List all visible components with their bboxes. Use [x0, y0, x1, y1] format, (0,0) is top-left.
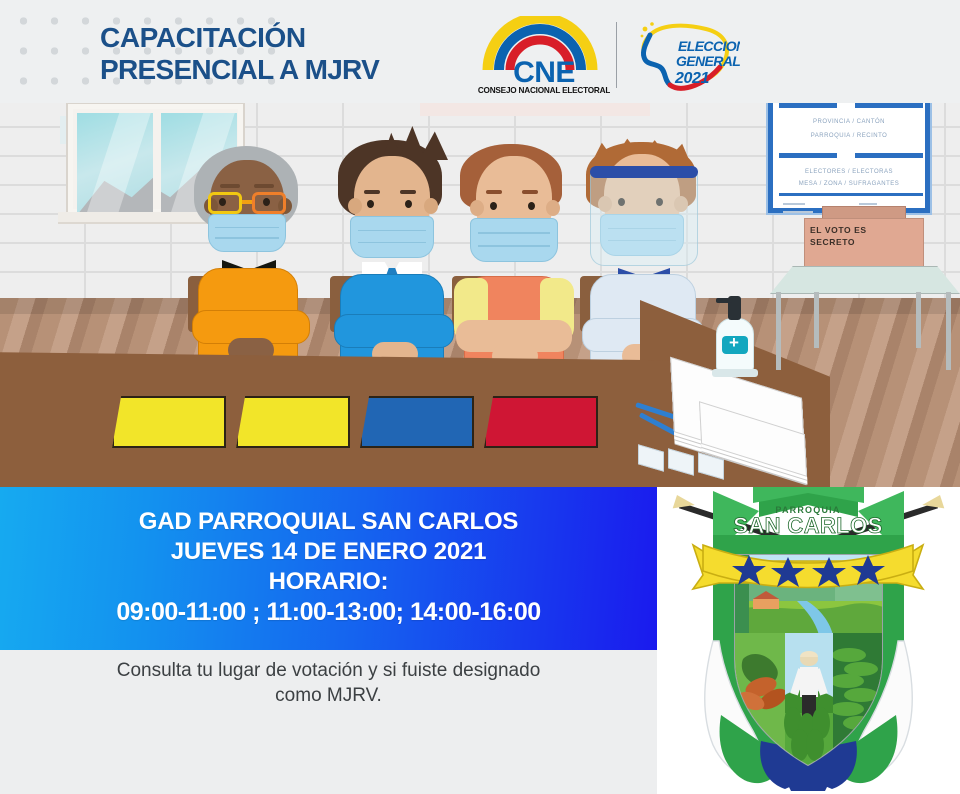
- eyebrow: [400, 190, 416, 194]
- page-title-line2: PRESENCIAL A MJRV: [100, 54, 379, 86]
- eye: [367, 200, 374, 208]
- svg-text:CONSEJO NACIONAL ELECTORAL: CONSEJO NACIONAL ELECTORAL: [478, 86, 610, 95]
- svg-text:ELECCIONES: ELECCIONES: [678, 38, 740, 54]
- ballot-red: [484, 396, 598, 448]
- page-title: CAPACITACIÓN PRESENCIAL A MJRV: [100, 22, 379, 86]
- tally-minor-line: [859, 203, 877, 205]
- eye: [219, 198, 226, 206]
- coat-of-arms: PARROQUIA SAN CARLOS: [657, 487, 960, 793]
- face-mask: [470, 218, 558, 262]
- tally-field2-line1: ELECTORES / ELECTORAS: [773, 169, 925, 175]
- ballot-box-text: EL VOTO ES SECRETO: [810, 224, 910, 248]
- svg-text:2021: 2021: [674, 70, 709, 87]
- face-mask: [350, 216, 434, 258]
- face-mask: [208, 214, 286, 252]
- banner-line-location: GAD PARROQUIAL SAN CARLOS: [0, 507, 657, 537]
- eye: [405, 200, 412, 208]
- eye: [528, 202, 535, 210]
- person-orange-tshirt: [452, 148, 576, 376]
- table-leg: [776, 292, 781, 370]
- tally-minor-line: [783, 203, 805, 205]
- tally-field2-line2: MESA / ZONA / SUFRAGANTES: [773, 181, 925, 187]
- ballot-yellow-1: [112, 396, 226, 448]
- eyebrow: [220, 184, 240, 188]
- ear: [470, 200, 484, 216]
- person-elderly-orange: [186, 146, 316, 376]
- face-shield: [590, 170, 698, 266]
- tally-divider: [779, 153, 837, 158]
- elecciones-generales-2021-logo: ELECCIONES GENERALES 2021: [620, 13, 740, 99]
- tally-divider: [855, 153, 923, 158]
- ear: [546, 200, 560, 216]
- ear: [424, 198, 438, 214]
- face-shield-band: [590, 166, 698, 178]
- tally-divider: [779, 103, 837, 108]
- banner-line-schedule-times: 09:00-11:00 ; 11:00-13:00; 14:00-16:00: [0, 597, 657, 627]
- tally-field1-line2: PARROQUIA / RECINTO: [773, 133, 925, 139]
- ballot-yellow-2: [236, 396, 350, 448]
- hand-sanitizer: [714, 296, 756, 376]
- table-leg: [814, 292, 819, 348]
- svg-text:GENERALES: GENERALES: [676, 53, 740, 69]
- ballot-box-text-line1: EL VOTO ES: [810, 225, 867, 235]
- ballot-box-text-line2: SECRETO: [810, 237, 855, 247]
- eyebrow: [364, 190, 380, 194]
- tally-divider: [779, 193, 923, 196]
- table-top: [770, 266, 960, 294]
- san-carlos-coat-of-arms-panel: PARROQUIA SAN CARLOS: [657, 487, 960, 794]
- person-blue-shirt: [330, 146, 456, 376]
- eyebrow: [254, 184, 274, 188]
- tally-divider: [855, 103, 923, 108]
- eyebrow: [522, 190, 538, 194]
- tally-field1-line1: PROVINCIA / CANTÓN: [773, 119, 925, 125]
- poster-root: JRV N° 0034 PROVINCIA / CANTÓN PARROQUIA…: [0, 0, 960, 794]
- header-bar: CAPACITACIÓN PRESENCIAL A MJRV CNE CONSE…: [0, 0, 960, 103]
- eyebrow: [486, 190, 502, 194]
- event-banner: GAD PARROQUIAL SAN CARLOS JUEVES 14 DE E…: [0, 487, 657, 650]
- sanitizer-nozzle: [716, 298, 732, 303]
- eye: [490, 202, 497, 210]
- cne-logo: CNE CONSEJO NACIONAL ELECTORAL: [478, 16, 610, 96]
- event-details: GAD PARROQUIAL SAN CARLOS JUEVES 14 DE E…: [0, 507, 657, 627]
- eye: [263, 198, 270, 206]
- header-fade: [740, 0, 960, 103]
- shield-banner-main: SAN CARLOS: [733, 513, 882, 538]
- page-title-line1: CAPACITACIÓN: [100, 22, 379, 54]
- voting-table: EL VOTO ES SECRETO: [770, 266, 960, 370]
- tally-minor-line: [783, 211, 813, 213]
- window-pane: [77, 113, 153, 215]
- footer-instruction: Consulta tu lugar de votación y si fuist…: [0, 658, 657, 708]
- footer-panel: Consulta tu lugar de votación y si fuist…: [0, 650, 657, 794]
- logo-divider: [616, 22, 617, 88]
- ear: [348, 198, 362, 214]
- sanitizer-label-icon: [722, 336, 748, 354]
- footer-instruction-line2: como MJRV.: [0, 683, 657, 708]
- banner-line-schedule-label: HORARIO:: [0, 567, 657, 597]
- svg-text:CNE: CNE: [513, 56, 575, 89]
- table-leg: [916, 292, 921, 348]
- ballot-blue: [360, 396, 474, 448]
- table-leg: [946, 292, 951, 370]
- sanitizer-tray: [712, 369, 758, 377]
- banner-line-date: JUEVES 14 DE ENERO 2021: [0, 537, 657, 567]
- footer-instruction-line1: Consulta tu lugar de votación y si fuist…: [0, 658, 657, 683]
